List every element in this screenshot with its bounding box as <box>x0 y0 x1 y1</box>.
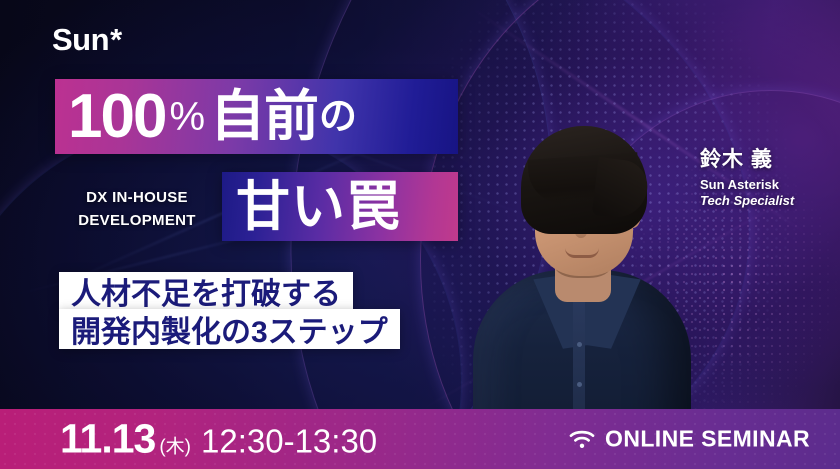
headline-jp-main: 自前 <box>210 89 318 144</box>
speaker-role: Tech Specialist <box>700 193 830 209</box>
headline-band-secondary: 甘い罠 <box>222 172 458 241</box>
portrait-button <box>577 382 582 387</box>
speaker-credentials: 鈴木 義 Sun Asterisk Tech Specialist <box>700 148 830 210</box>
eyebrow-label: DX IN-HOUSE DEVELOPMENT <box>63 186 211 233</box>
asterisk-icon: * <box>110 24 122 55</box>
eyebrow-line-1: DX IN-HOUSE <box>63 186 211 209</box>
headline-band2-text: 甘い罠 <box>236 180 401 234</box>
speaker-name: 鈴木 義 <box>700 148 830 172</box>
logo-wordmark: Sun <box>52 24 109 55</box>
event-datetime: 11.13 (木) 12:30-13:30 <box>60 419 377 460</box>
footer-bar: 11.13 (木) 12:30-13:30 ONLINE SEMINAR <box>0 409 840 469</box>
subtitle-line-1: 人材不足を打破する <box>59 272 353 310</box>
speaker-organization: Sun Asterisk <box>700 177 830 193</box>
event-time: 12:30-13:30 <box>201 425 377 458</box>
event-date: 11.13 <box>60 419 155 460</box>
event-format-label: ONLINE SEMINAR <box>605 426 810 453</box>
wifi-icon <box>569 429 595 449</box>
eyebrow-line-2: DEVELOPMENT <box>63 209 211 232</box>
portrait-mouth <box>565 248 599 258</box>
event-format: ONLINE SEMINAR <box>569 426 810 453</box>
sun-asterisk-logo: Sun * <box>52 24 122 55</box>
headline-percent-sign: % <box>169 97 205 137</box>
headline-number: 100 <box>68 86 165 148</box>
event-day-of-week: (木) <box>159 438 191 457</box>
headline-band-primary: 100 % 自前 の <box>55 79 458 154</box>
subtitle-line-2: 開発内製化の3ステップ <box>59 309 400 349</box>
seminar-banner: Sun * 100 % 自前 の DX IN-HOUSE DEVELOPMENT… <box>0 0 840 469</box>
speaker-portrait <box>455 52 705 469</box>
headline-jp-suffix: の <box>319 98 357 136</box>
portrait-button <box>577 342 582 347</box>
